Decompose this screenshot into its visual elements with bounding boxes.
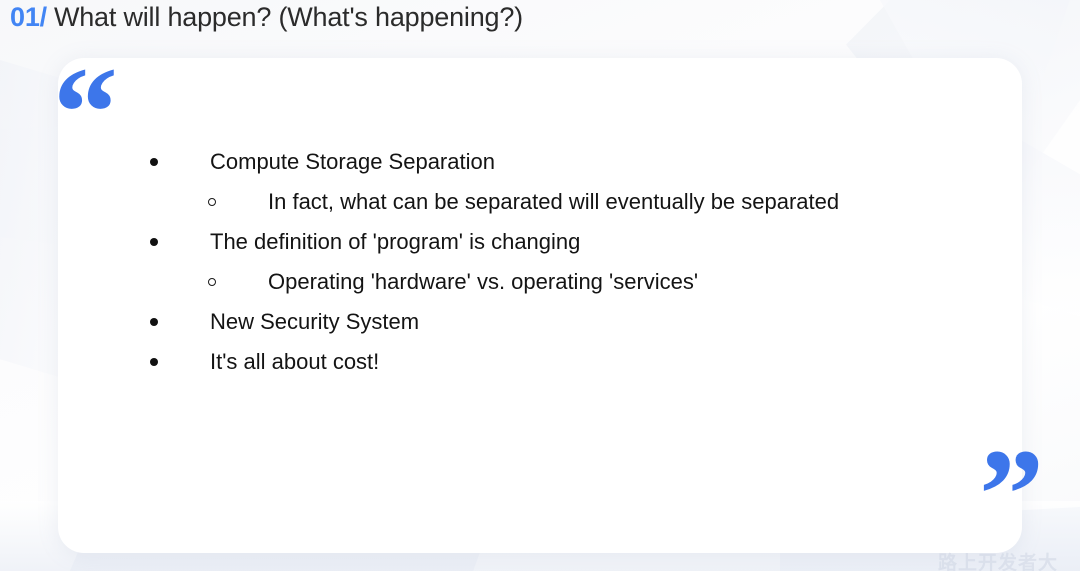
- list-item: Operating 'hardware' vs. operating 'serv…: [58, 262, 1022, 302]
- list-item-label: The definition of 'program' is changing: [210, 222, 580, 262]
- bullet-disc-icon: [150, 342, 210, 382]
- list-item: New Security System: [58, 302, 1022, 342]
- bullet-disc-icon: [150, 222, 210, 262]
- section-number: 01/: [10, 2, 47, 33]
- page-title: 01/ What will happen? (What's happening?…: [10, 2, 523, 33]
- section-title: What will happen? (What's happening?): [54, 2, 523, 33]
- list-item-label: It's all about cost!: [210, 342, 379, 382]
- bullet-circle-icon: [208, 262, 268, 302]
- bullet-list: Compute Storage Separation In fact, what…: [58, 58, 1022, 382]
- list-item-label: New Security System: [210, 302, 419, 342]
- bullet-circle-icon: [208, 182, 268, 222]
- quote-open-icon: “: [53, 48, 114, 178]
- slide-canvas: 01/ What will happen? (What's happening?…: [0, 0, 1080, 571]
- watermark-text: 路上开发者大: [938, 548, 1058, 571]
- list-item-label: Compute Storage Separation: [210, 142, 495, 182]
- list-item-label: Operating 'hardware' vs. operating 'serv…: [268, 262, 698, 302]
- quote-close-icon: ”: [979, 430, 1040, 560]
- list-item: It's all about cost!: [58, 342, 1022, 382]
- list-item: The definition of 'program' is changing: [58, 222, 1022, 262]
- bullet-disc-icon: [150, 302, 210, 342]
- list-item: Compute Storage Separation: [58, 142, 1022, 182]
- bullet-disc-icon: [150, 142, 210, 182]
- list-item: In fact, what can be separated will even…: [58, 182, 1022, 222]
- list-item-label: In fact, what can be separated will even…: [268, 182, 839, 222]
